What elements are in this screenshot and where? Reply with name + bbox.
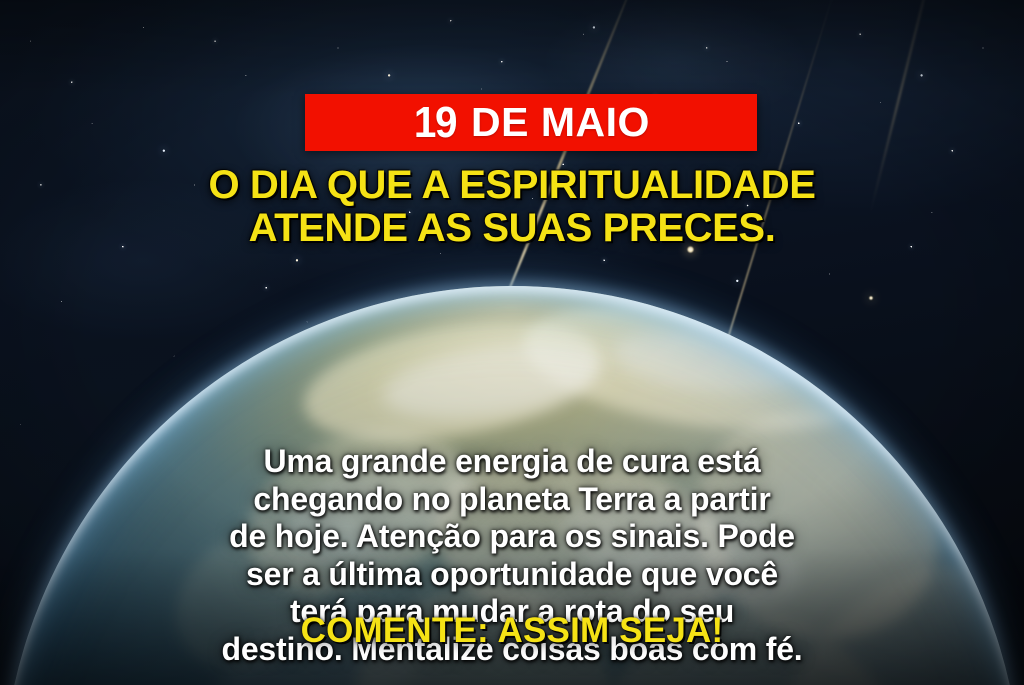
call-to-action-text: COMENTE: ASSIM SEJA! (0, 612, 1024, 651)
body-line-1: Uma grande energia de cura está (62, 443, 962, 481)
body-line-4: ser a última oportunidade que você (62, 556, 962, 594)
date-banner-month: DE MAIO (471, 102, 650, 143)
poster-content: 19 DE MAIO O DIA QUE A ESPIRITUALIDADE A… (0, 0, 1024, 685)
body-line-2: chegando no planeta Terra a partir (62, 481, 962, 519)
headline: O DIA QUE A ESPIRITUALIDADE ATENDE AS SU… (0, 164, 1024, 250)
date-banner: 19 DE MAIO (305, 94, 757, 151)
headline-line-1: O DIA QUE A ESPIRITUALIDADE (0, 164, 1024, 207)
date-banner-day: 19 (414, 101, 456, 145)
body-line-3: de hoje. Atenção para os sinais. Pode (62, 518, 962, 556)
headline-line-2: ATENDE AS SUAS PRECES. (0, 207, 1024, 250)
poster-canvas: 19 DE MAIO O DIA QUE A ESPIRITUALIDADE A… (0, 0, 1024, 685)
